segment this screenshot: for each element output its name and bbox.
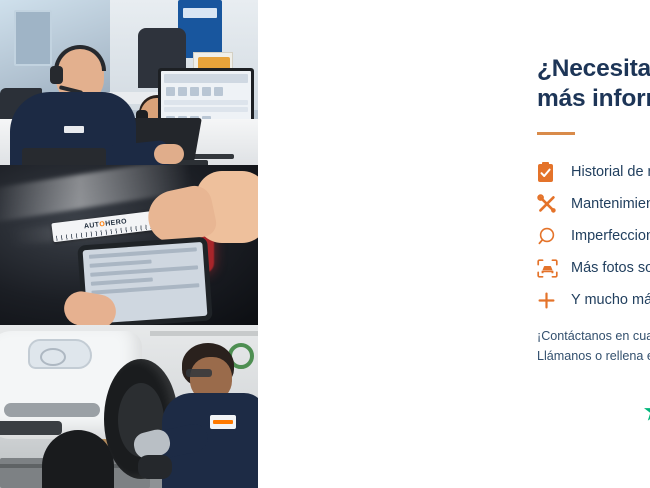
- car-frame-icon: [537, 255, 571, 281]
- shelf-decor: [150, 331, 258, 336]
- title-divider: [537, 132, 575, 135]
- photo-column: AUTOHERO: [0, 0, 258, 488]
- mechanic-wheel-photo: [0, 325, 258, 488]
- lower-grille-decor: [0, 421, 62, 435]
- feature-item-more: Y mucho más: [537, 284, 650, 316]
- feature-item-more-photos: Más fotos sobre el coche: [537, 252, 650, 284]
- feature-list: Historial de mantenimientos Mantenimient…: [537, 156, 650, 316]
- contact-line-2: Llámanos o rellena el formulario de cont…: [537, 347, 650, 367]
- feature-label: Y mucho más: [571, 293, 650, 308]
- feature-label: Historial de mantenimientos: [571, 165, 650, 180]
- trustpilot-star-icon: [643, 400, 650, 423]
- feature-label: Imperfecciones: [571, 229, 650, 244]
- plus-icon: [537, 287, 571, 313]
- feature-item-maintenance-history: Historial de mantenimientos: [537, 156, 650, 188]
- car-inspection-ruler-photo: AUTOHERO: [0, 165, 258, 325]
- title-line-1: ¿Necesitas: [537, 54, 650, 84]
- feature-label: Más fotos sobre el coche: [571, 261, 650, 276]
- magnifier-icon: [537, 223, 571, 249]
- trustpilot-logo[interactable]: Trustpilot: [643, 400, 650, 423]
- clipboard-check-icon: [537, 159, 571, 185]
- headlight-decor: [28, 339, 92, 369]
- keyboard-decor: [22, 148, 106, 165]
- feature-label: Mantenimiento realizado: [571, 197, 650, 212]
- info-promo-card: AUTOHERO: [0, 0, 650, 488]
- title-line-2: más información?: [537, 84, 650, 114]
- contact-text: ¡Contáctanos en cualquier momento para m…: [537, 327, 650, 367]
- bumper-grille-decor: [4, 403, 100, 417]
- trustpilot-widget[interactable]: Trustpilot Excelente: [643, 388, 650, 448]
- feature-item-maintenance-done: Mantenimiento realizado: [537, 188, 650, 220]
- content-panel: ¿Necesitas más información? Estamos enca…: [258, 0, 650, 488]
- contact-line-1: ¡Contáctanos en cualquier momento para m…: [537, 327, 650, 347]
- page-title: ¿Necesitas más información?: [537, 54, 650, 114]
- call-center-agents-photo: [0, 0, 258, 165]
- mechanic-decor: [168, 343, 258, 488]
- feature-item-imperfections: Imperfecciones: [537, 220, 650, 252]
- tools-cross-icon: [537, 191, 571, 217]
